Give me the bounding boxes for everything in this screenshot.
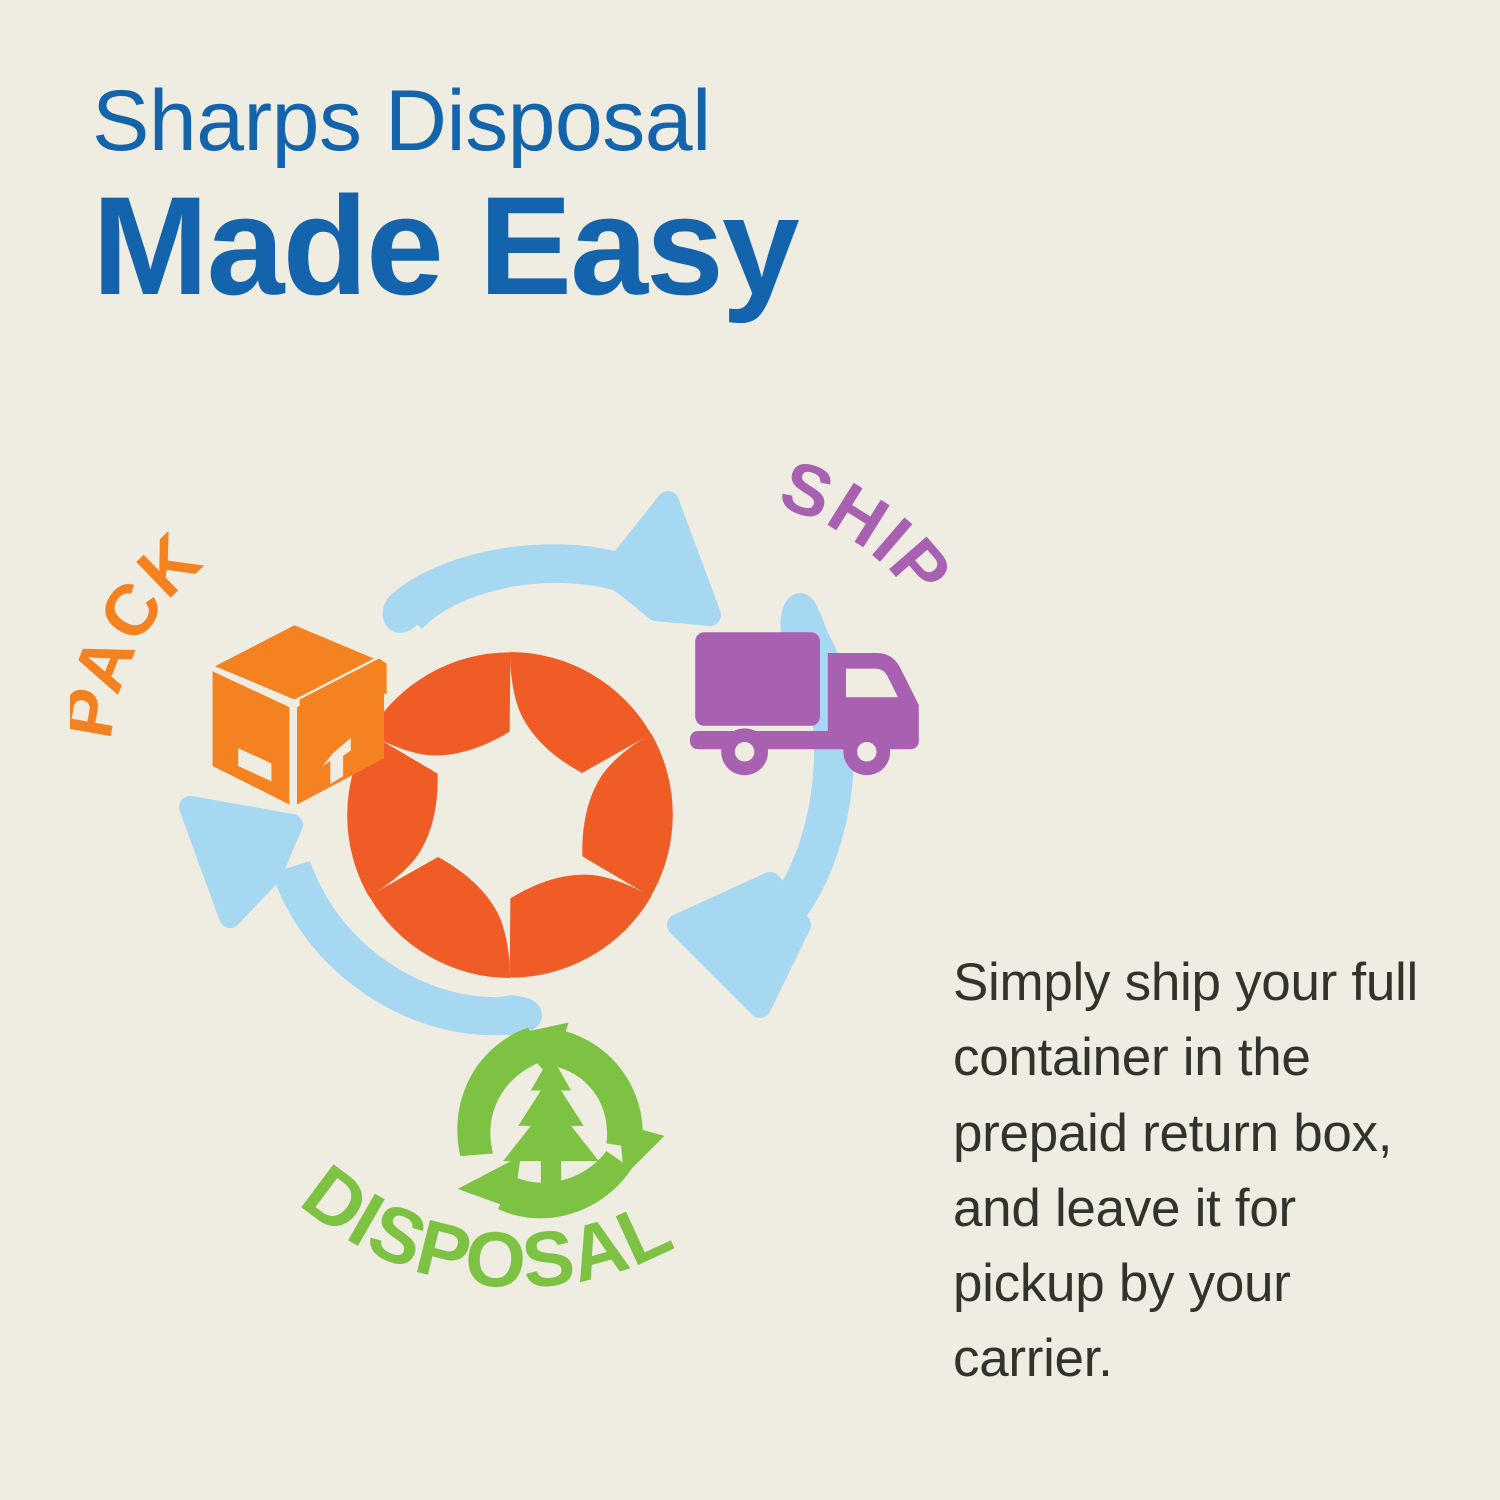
title-line-1: Sharps Disposal — [92, 78, 1092, 164]
body-paragraph: Simply ship your full container in the p… — [953, 945, 1423, 1397]
recycle-tree-icon — [457, 1023, 664, 1219]
step-label-ship: SHIP — [771, 455, 950, 614]
infographic-canvas: Sharps Disposal Made Easy — [0, 0, 1500, 1500]
delivery-truck-icon — [690, 632, 919, 775]
step-label-pack-text: PACK — [70, 517, 217, 743]
step-label-ship-text: SHIP — [771, 455, 950, 614]
cycle-diagram: PACK SHIP DISPOSAL — [70, 455, 950, 1335]
title-line-2: Made Easy — [92, 172, 1092, 319]
arrow-pack-to-ship — [383, 502, 710, 633]
page-title: Sharps Disposal Made Easy — [92, 78, 1092, 319]
step-label-pack: PACK — [70, 517, 217, 743]
